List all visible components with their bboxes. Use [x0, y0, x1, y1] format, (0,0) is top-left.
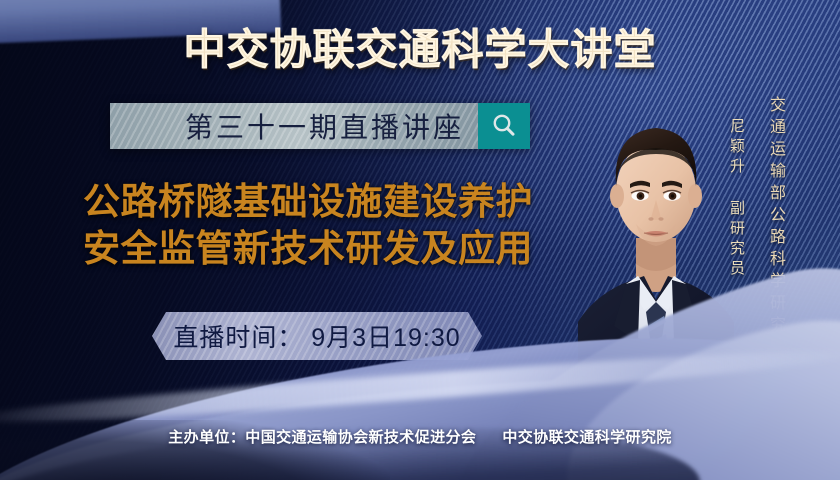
page-title: 中交协联交通科学大讲堂	[0, 16, 840, 77]
search-icon	[489, 111, 519, 141]
episode-label: 第三十一期直播讲座	[185, 106, 464, 146]
episode-search-bar[interactable]: 第三十一期直播讲座	[110, 103, 530, 149]
episode-label-field[interactable]: 第三十一期直播讲座	[110, 103, 478, 149]
schedule-text: 直播时间： 9月3日19:30	[173, 318, 460, 354]
search-button[interactable]	[478, 103, 530, 149]
lecture-title-line-1: 公路桥隧基础设施建设养护	[28, 178, 588, 225]
organizer-secondary: 中交协联交通科学研究院	[502, 429, 671, 446]
schedule-badge: 直播时间： 9月3日19:30	[152, 312, 482, 360]
speaker-portrait	[578, 88, 734, 420]
organizer-label: 主办单位：	[168, 429, 245, 446]
organizer-primary: 中国交通运输协会新技术促进分会	[245, 429, 476, 446]
live-stream-poster: 中交协联交通科学大讲堂 第三十一期直播讲座 公路桥隧基础设施建设养护 安全监管新…	[0, 0, 840, 480]
footer-organizers: 主办单位：中国交通运输协会新技术促进分会中交协联交通科学研究院	[0, 426, 840, 447]
speaker-name-title: 尼颖升 副研究员	[726, 118, 747, 280]
lecture-title-line-2: 安全监管新技术研发及应用	[28, 225, 588, 272]
speaker-organization: 交通运输部公路科学研究院	[763, 96, 787, 360]
lecture-title: 公路桥隧基础设施建设养护 安全监管新技术研发及应用	[28, 178, 588, 273]
